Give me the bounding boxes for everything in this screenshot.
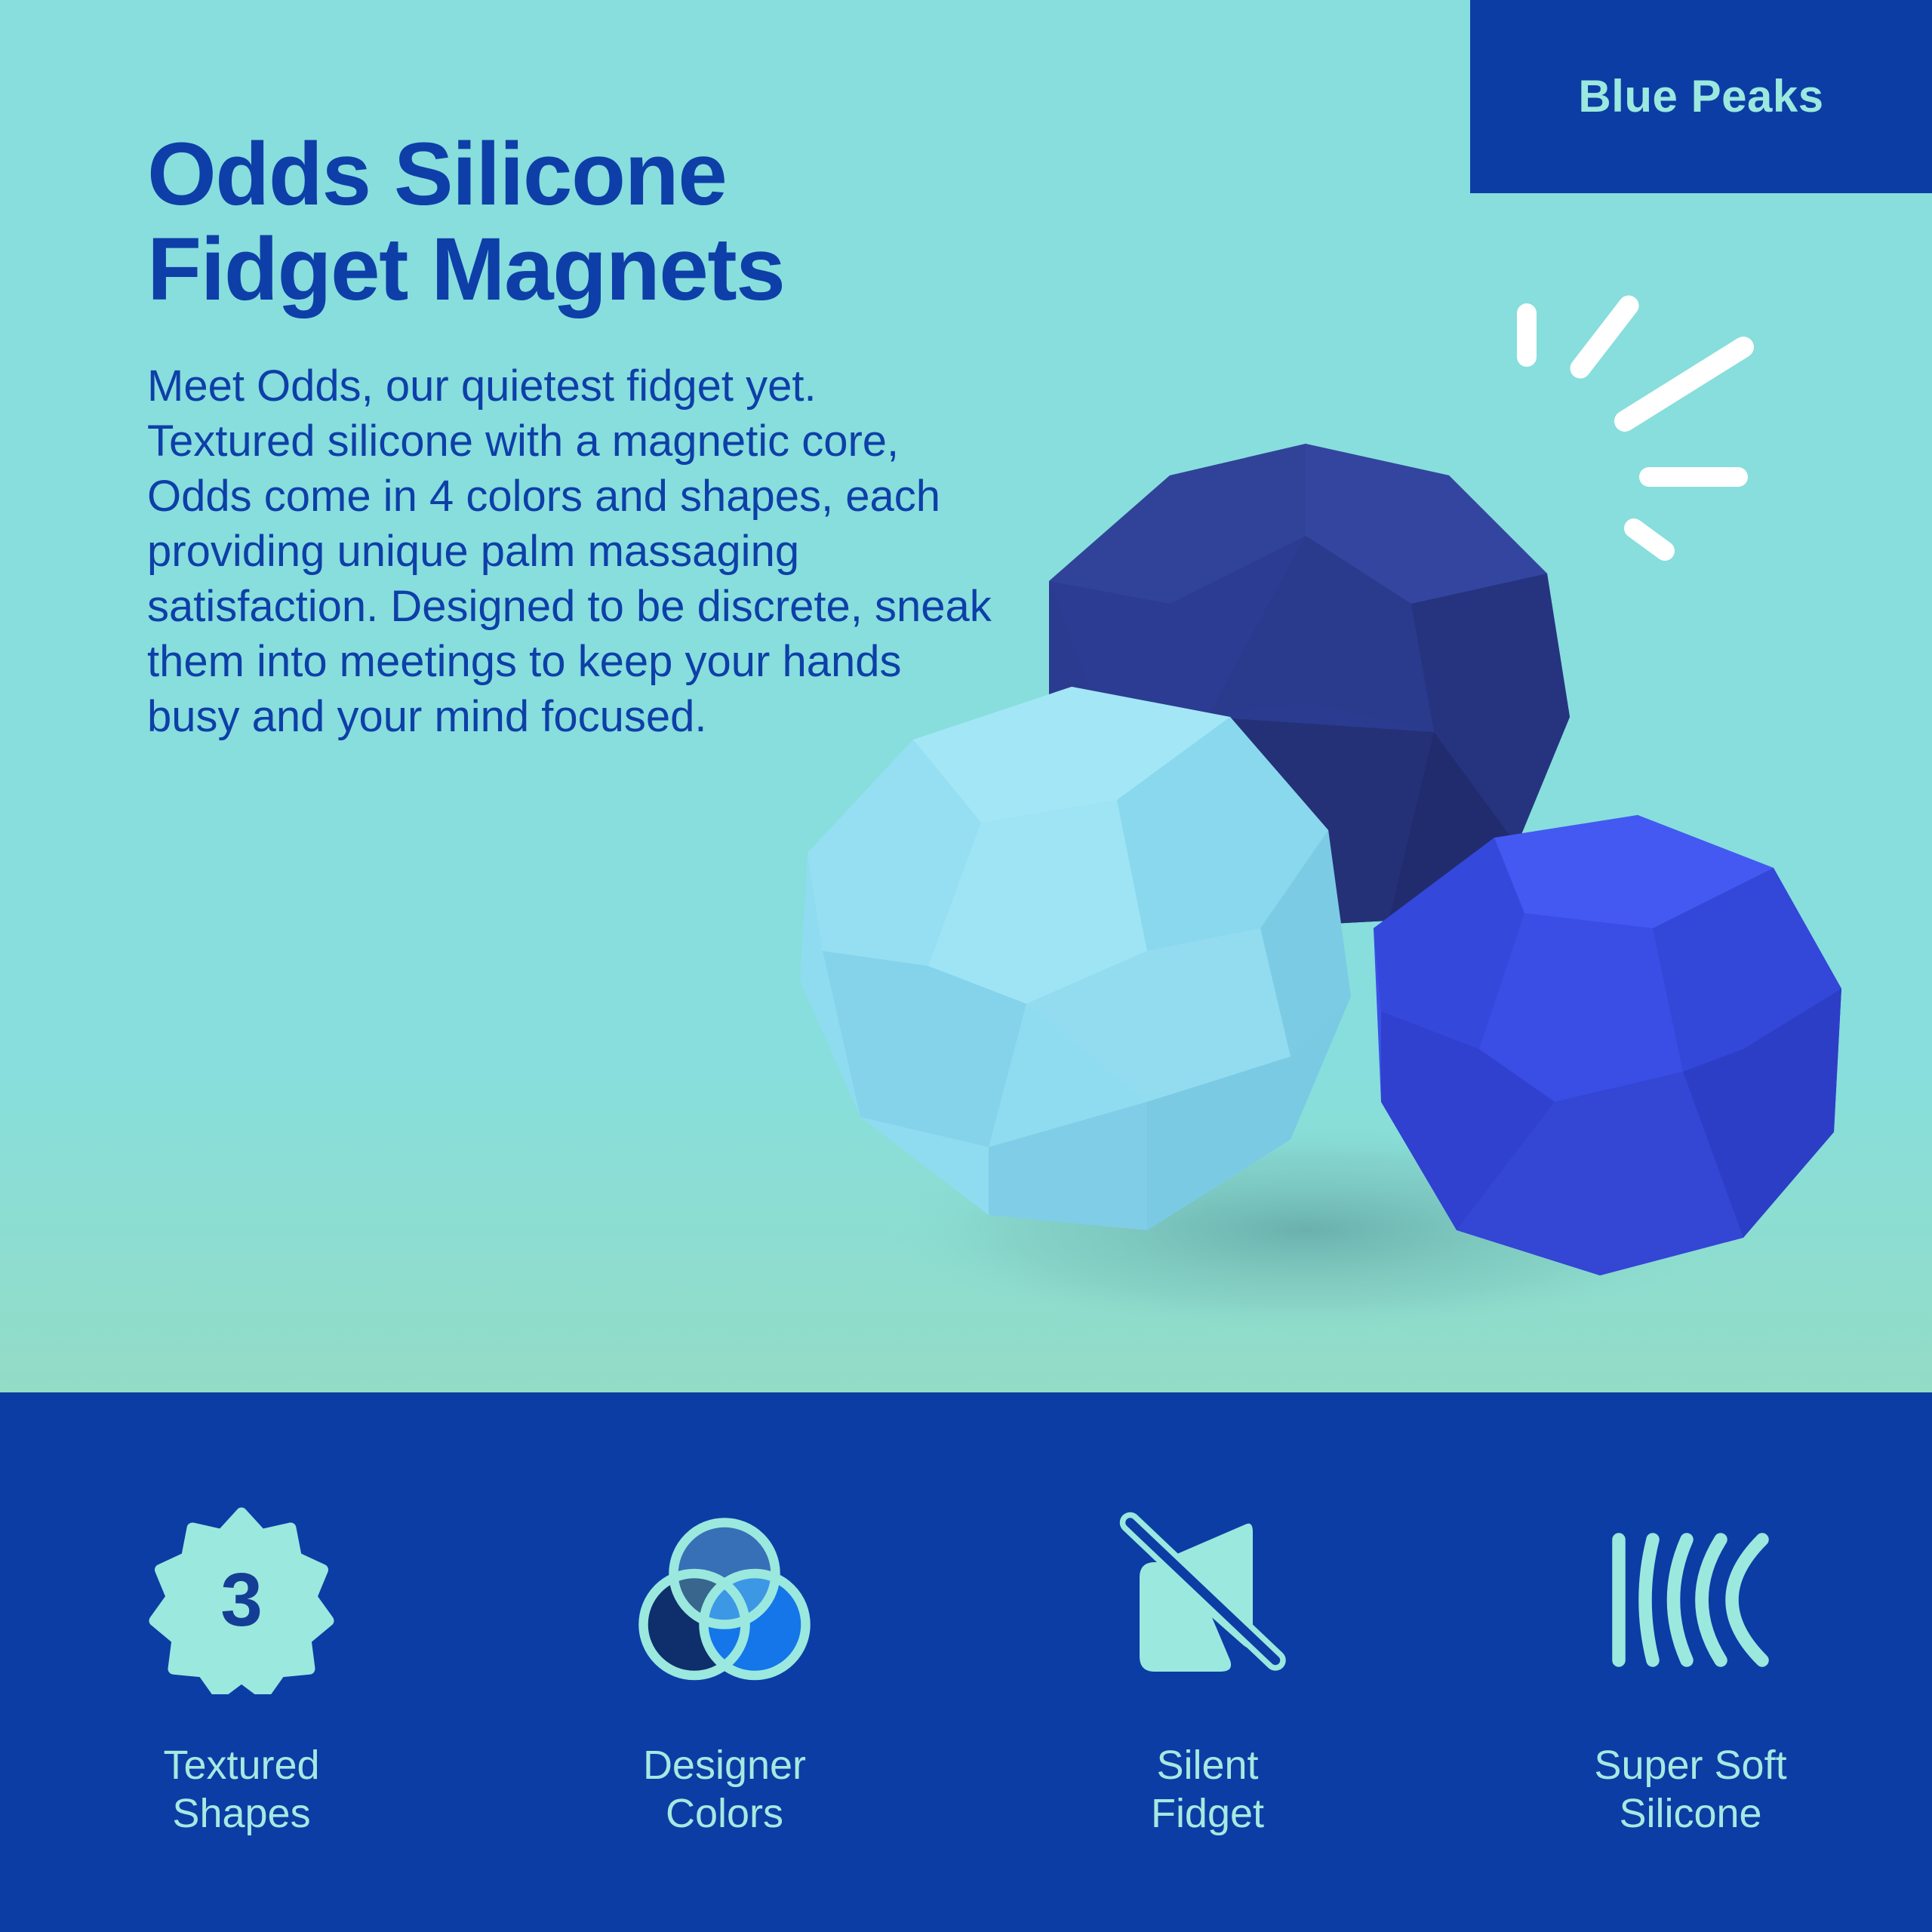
starburst-badge-icon: 3 <box>147 1506 336 1694</box>
feature-item-silent-fidget: Silent Fidget <box>966 1392 1449 1932</box>
feature-label: Super Soft Silicone <box>1594 1741 1786 1838</box>
headline-line-1: Odds Silicone <box>147 125 726 224</box>
feature-bar: 3 Textured Shapes Design <box>0 1392 1932 1932</box>
mute-speaker-icon <box>1113 1506 1302 1694</box>
feature-label: Textured Shapes <box>163 1741 319 1838</box>
feature-item-textured-shapes: 3 Textured Shapes <box>0 1392 483 1932</box>
venn-circles-icon <box>630 1506 819 1694</box>
product-marketing-poster: Blue Peaks Odds Silicone Fidget Magnets … <box>0 0 1932 1932</box>
badge-number: 3 <box>220 1558 263 1642</box>
headline-line-2: Fidget Magnets <box>147 222 1038 317</box>
hero-stage: Blue Peaks Odds Silicone Fidget Magnets … <box>0 0 1932 1392</box>
feature-label: Silent Fidget <box>1151 1741 1264 1838</box>
brand-badge: Blue Peaks <box>1470 0 1932 193</box>
feature-item-designer-colors: Designer Colors <box>483 1392 966 1932</box>
light-blue-faceted-ball <box>800 687 1351 1230</box>
brand-name: Blue Peaks <box>1578 74 1823 119</box>
soft-wave-icon <box>1596 1506 1785 1694</box>
feature-item-super-soft-silicone: Super Soft Silicone <box>1449 1392 1932 1932</box>
sparkle-burst-icon <box>1502 279 1826 581</box>
hero-description: Meet Odds, our quietest fidget yet. Text… <box>147 358 992 744</box>
hero-copy: Odds Silicone Fidget Magnets Meet Odds, … <box>147 127 1038 744</box>
feature-label: Designer Colors <box>643 1741 806 1838</box>
royal-blue-faceted-ball <box>1374 815 1841 1275</box>
page-title: Odds Silicone Fidget Magnets <box>147 127 1038 318</box>
